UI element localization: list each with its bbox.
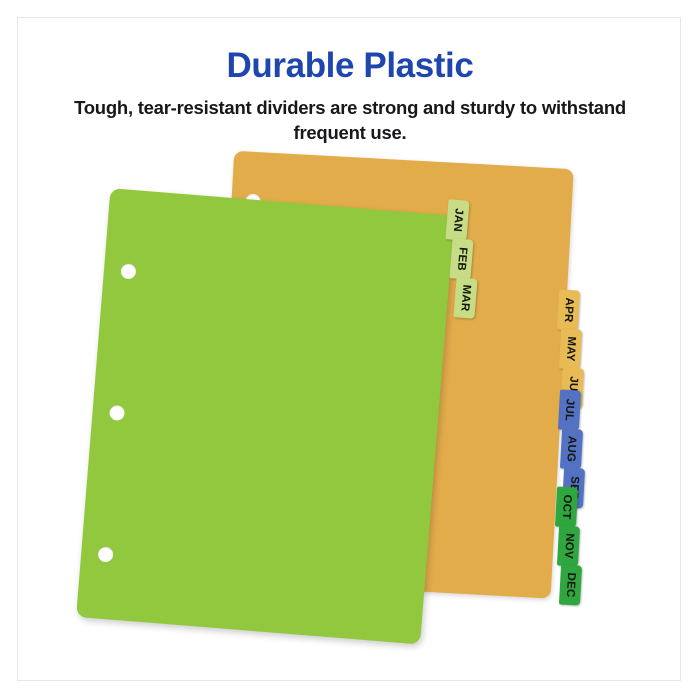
tab-column: JAN FEB MAR APR MAY JUN JUL AUG xyxy=(0,150,700,660)
tab-mar: MAR xyxy=(453,277,477,319)
page-subtitle: Tough, tear-resistant dividers are stron… xyxy=(65,95,635,145)
tab-aug: AUG xyxy=(560,428,583,469)
product-image: Durable Plastic Tough, tear-resistant di… xyxy=(0,0,700,700)
tab-apr: APR xyxy=(557,289,580,330)
tab-dec: DEC xyxy=(559,564,582,605)
subtitle-line-1: Tough, tear-resistant dividers are stron… xyxy=(74,97,515,118)
tab-label: NOV xyxy=(562,533,575,559)
tab-label: MAY xyxy=(564,336,577,362)
tab-label: JAN xyxy=(451,208,465,232)
tab-label: MAR xyxy=(458,284,472,312)
tab-label: JUL xyxy=(563,399,576,422)
marketing-copy: Durable Plastic Tough, tear-resistant di… xyxy=(0,46,700,145)
tab-label: FEB xyxy=(455,247,469,271)
tab-feb: FEB xyxy=(449,238,473,280)
tab-oct: OCT xyxy=(555,486,578,527)
tab-label: APR xyxy=(562,297,575,323)
tab-label: DEC xyxy=(564,572,577,598)
tab-jan: JAN xyxy=(445,199,469,241)
tab-label: OCT xyxy=(560,494,573,519)
tab-may: MAY xyxy=(559,328,582,369)
tab-label: AUG xyxy=(565,436,578,463)
page-title: Durable Plastic xyxy=(0,46,700,86)
tab-nov: NOV xyxy=(557,525,580,566)
tab-jul: JUL xyxy=(558,389,581,430)
divider-photo: JAN FEB MAR APR MAY JUN JUL AUG xyxy=(0,150,700,660)
